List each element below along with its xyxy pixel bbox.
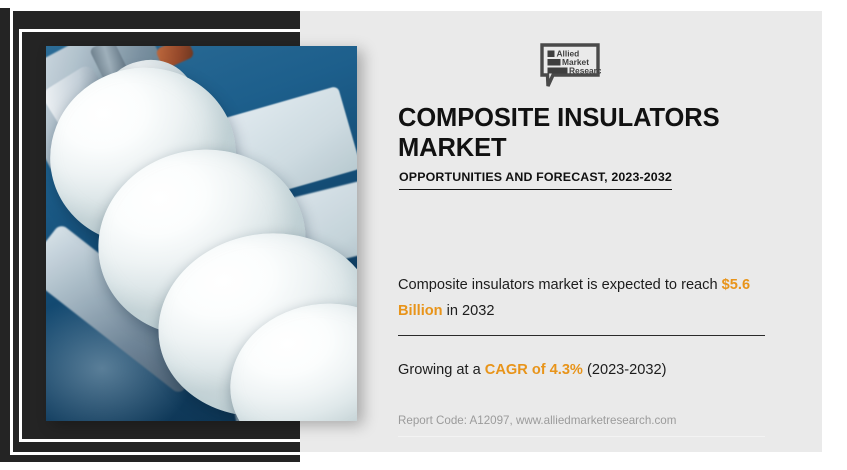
report-info-column: Allied Market Research COMPOSITE INSULAT… xyxy=(398,0,798,470)
cagr-figure: CAGR of 4.3% xyxy=(485,362,583,378)
cagr-suffix: (2023-2032) xyxy=(583,362,667,378)
market-value-suffix: in 2032 xyxy=(443,303,495,319)
page-title: COMPOSITE INSULATORS MARKET xyxy=(398,103,758,163)
svg-text:Research: Research xyxy=(569,66,601,76)
cagr-prefix: Growing at a xyxy=(398,362,485,378)
footer-divider xyxy=(398,436,765,437)
photo-background xyxy=(46,46,357,421)
market-value-statement: Composite insulators market is expected … xyxy=(398,272,768,324)
logo-mark-icon: Allied Market Research xyxy=(539,43,601,89)
infographic-canvas: Allied Market Research COMPOSITE INSULAT… xyxy=(0,0,847,470)
section-divider xyxy=(398,335,765,336)
composite-insulator-photo xyxy=(46,46,357,421)
footer-report-code: Report Code: A12097, www.alliedmarketres… xyxy=(398,413,676,429)
allied-market-research-logo: Allied Market Research xyxy=(539,43,601,89)
report-subtitle: OPPORTUNITIES AND FORECAST, 2023-2032 xyxy=(399,170,672,190)
cagr-statement: Growing at a CAGR of 4.3% (2023-2032) xyxy=(398,359,778,381)
market-value-prefix: Composite insulators market is expected … xyxy=(398,277,722,293)
